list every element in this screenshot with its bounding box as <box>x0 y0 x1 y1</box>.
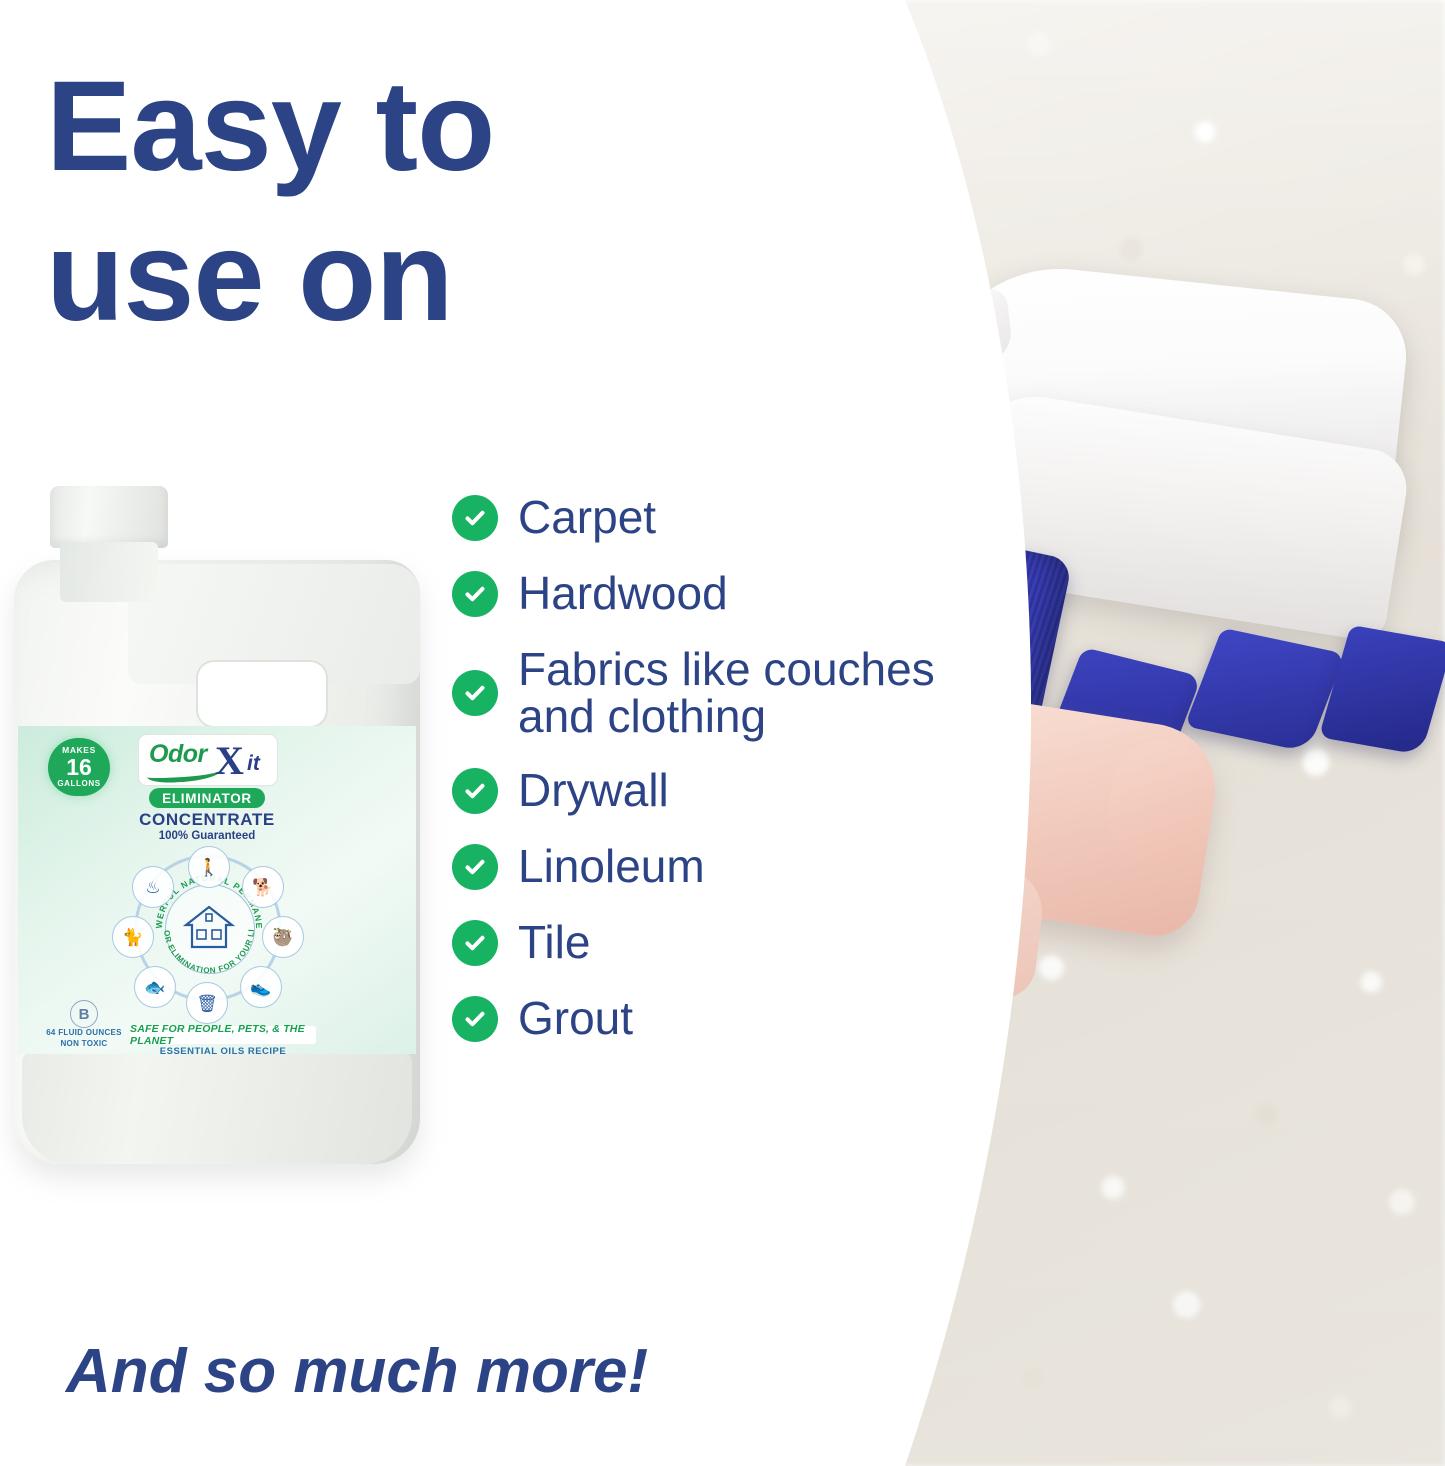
list-item: Grout <box>452 995 1052 1043</box>
list-item-label: Drywall <box>518 767 669 815</box>
house-icon <box>182 902 236 952</box>
check-icon <box>452 920 498 966</box>
check-icon <box>452 495 498 541</box>
list-item: Fabrics like couches and clothing <box>452 646 1052 742</box>
check-icon <box>452 996 498 1042</box>
list-item-label: Hardwood <box>518 570 728 618</box>
headline-line-2: use on <box>46 202 766 352</box>
bottle-handle-hole <box>198 662 326 726</box>
list-item: Drywall <box>452 767 1052 815</box>
check-icon <box>452 571 498 617</box>
list-item-label: Linoleum <box>518 843 705 891</box>
guarantee-text: 100% Guaranteed <box>138 830 276 842</box>
list-item-label: Carpet <box>518 494 656 542</box>
odor-ring-graphic: POWERFUL NATURAL PERMANENT ODOR ELIMINAT… <box>110 850 306 1020</box>
logo-it-text: it <box>247 752 260 776</box>
list-item-label: Fabrics like couches and clothing <box>518 646 935 742</box>
bottle-label: MAKES 16 GALLONS Odor X it ELIMINATOR CO… <box>18 726 416 1054</box>
check-icon <box>452 768 498 814</box>
logo-swoosh-icon <box>147 763 222 784</box>
surfaces-checklist: Carpet Hardwood Fabrics like couches and… <box>452 494 1052 1071</box>
check-icon <box>452 670 498 716</box>
concentrate-text: CONCENTRATE <box>138 810 276 830</box>
headline-line-1: Easy to <box>46 52 766 202</box>
volume-text: 64 FLUID OUNCES NON TOXIC <box>40 1028 128 1050</box>
list-item-label: Grout <box>518 995 633 1043</box>
makes-badge-number: 16 <box>48 756 110 779</box>
trash-odor-icon: 🗑 <box>186 982 228 1024</box>
list-item: Hardwood <box>452 570 1052 618</box>
eliminator-pill: ELIMINATOR <box>149 788 265 808</box>
makes-gallons-badge: MAKES 16 GALLONS <box>48 738 110 796</box>
bottle-base <box>22 1052 412 1164</box>
list-item: Tile <box>452 919 1052 967</box>
recipe-text: ESSENTIAL OILS RECIPE <box>130 1046 316 1054</box>
bottle-neck <box>60 542 158 602</box>
product-infographic: Easy to use on Carpet Hardwood Fabrics l… <box>0 0 1445 1466</box>
product-bottle: MAKES 16 GALLONS Odor X it ELIMINATOR CO… <box>8 486 428 1166</box>
trigger-lever-b <box>1185 628 1346 752</box>
bottle-cap <box>50 486 168 548</box>
list-item-label: Tile <box>518 919 590 967</box>
skunk-odor-icon: 🦥 <box>262 916 304 958</box>
odorxit-logo: Odor X it <box>138 734 278 786</box>
list-item: Carpet <box>452 494 1052 542</box>
tagline: And so much more! <box>66 1336 648 1407</box>
safe-claim-banner: SAFE FOR PEOPLE, PETS, & THE PLANET <box>130 1026 316 1044</box>
fish-bones-odor-icon: 🐟 <box>134 966 176 1008</box>
smoke-odor-icon: ♨ <box>132 866 174 908</box>
page-title: Easy to use on <box>46 52 766 352</box>
check-icon <box>452 844 498 890</box>
person-odor-icon: 🚶 <box>188 846 230 888</box>
cat-litter-odor-icon: 🐈 <box>112 916 154 958</box>
recycle-mark: B <box>70 1000 98 1028</box>
makes-badge-bottom: GALLONS <box>48 780 110 788</box>
trigger-lever-c <box>1319 625 1445 755</box>
shoe-odor-icon: 👟 <box>240 966 282 1008</box>
logo-x-text: X <box>215 737 244 784</box>
nozzle-tip <box>910 287 1013 369</box>
list-item: Linoleum <box>452 843 1052 891</box>
nozzle-vent-dot <box>944 310 955 321</box>
dog-odor-icon: 🐕 <box>242 866 284 908</box>
